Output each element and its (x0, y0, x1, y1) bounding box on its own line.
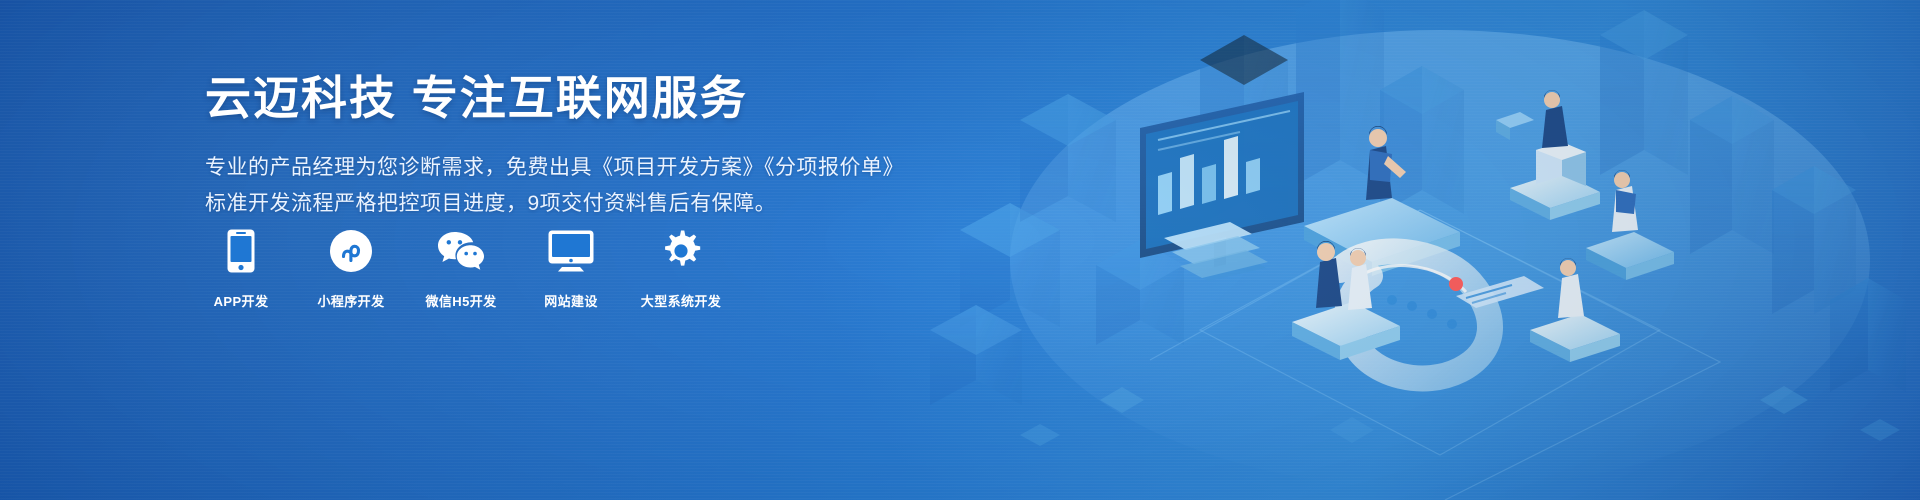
page-title: 云迈科技 专注互联网服务 (205, 70, 925, 128)
hero-banner: 云迈科技 专注互联网服务 专业的产品经理为您诊断需求，免费出具《项目开发方案》《… (0, 0, 1920, 500)
service-label: 网站建设 (544, 291, 598, 310)
hero-copy: 云迈科技 专注互联网服务 专业的产品经理为您诊断需求，免费出具《项目开发方案》《… (205, 70, 925, 223)
subtitle-line-2: 标准开发流程严格把控项目进度，9项交付资料售后有保障。 (205, 186, 925, 223)
gear-icon (660, 228, 702, 274)
service-label: APP开发 (214, 291, 269, 310)
service-item-system[interactable]: 大型系统开发 (645, 228, 717, 310)
service-item-wechat[interactable]: 微信H5开发 (425, 228, 497, 310)
wechat-icon (437, 228, 485, 274)
hero-subtitle: 专业的产品经理为您诊断需求，免费出具《项目开发方案》《分项报价单》 标准开发流程… (205, 150, 925, 224)
subtitle-line-1: 专业的产品经理为您诊断需求，免费出具《项目开发方案》《分项报价单》 (205, 150, 925, 187)
mobile-phone-icon (227, 228, 255, 274)
service-label: 小程序开发 (317, 291, 384, 310)
hero-illustration (900, 0, 1920, 500)
service-item-miniprogram[interactable]: 小程序开发 (315, 228, 387, 310)
mini-program-icon (330, 228, 372, 274)
monitor-icon (548, 228, 594, 274)
service-label: 微信H5开发 (425, 291, 496, 310)
service-list: APP开发 小程序开发 微信 (205, 228, 717, 310)
service-item-app[interactable]: APP开发 (205, 228, 277, 310)
service-item-website[interactable]: 网站建设 (535, 228, 607, 310)
service-label: 大型系统开发 (641, 291, 721, 310)
